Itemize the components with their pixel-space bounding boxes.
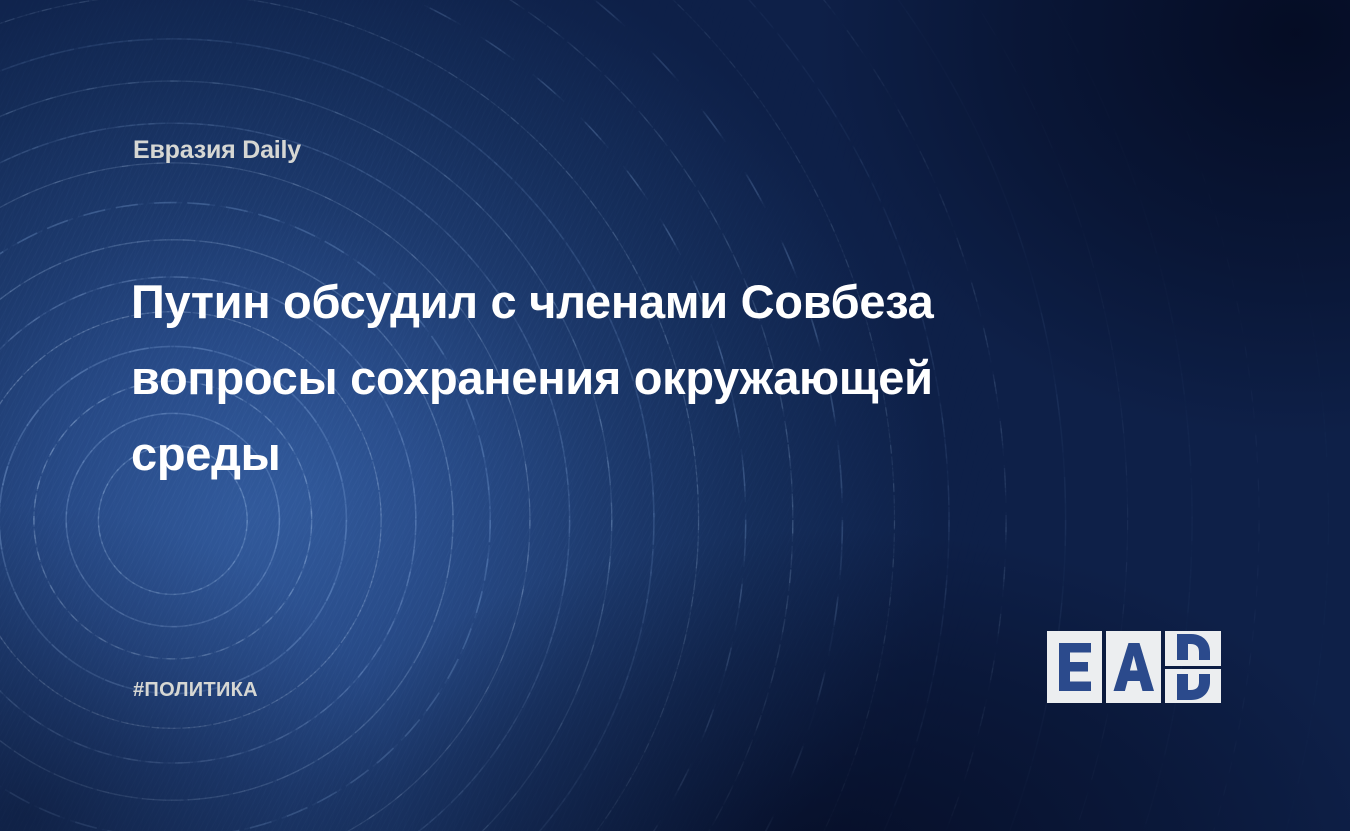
brand-name: Евразия Daily: [133, 136, 301, 165]
eadaily-logo: [1047, 631, 1221, 703]
logo-tile-e: [1047, 631, 1102, 703]
logo-half-top: [1165, 631, 1221, 666]
page-title: Путин обсудил с членами Совбеза вопросы …: [131, 264, 1091, 492]
letter-e-icon: [1055, 641, 1095, 693]
letter-d-upper-icon: [1173, 631, 1213, 660]
letter-d-lower-icon: [1173, 674, 1213, 703]
news-share-card: Евразия Daily Путин обсудил с членами Со…: [0, 0, 1350, 831]
card-content: Евразия Daily Путин обсудил с членами Со…: [0, 0, 1350, 831]
logo-half-bottom: [1165, 669, 1221, 704]
logo-tile-d-split: [1165, 631, 1221, 703]
category-hashtag: #ПОЛИТИКА: [133, 679, 258, 702]
logo-tile-a: [1106, 631, 1161, 703]
letter-a-icon: [1112, 641, 1156, 693]
